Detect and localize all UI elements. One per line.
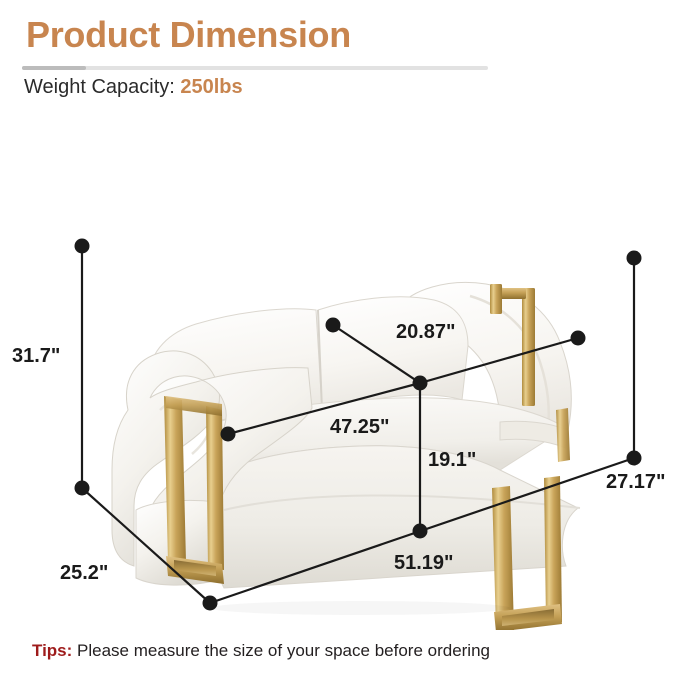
vertex-seat-left <box>221 427 236 442</box>
label-height-31-7: 31.7" <box>12 345 60 367</box>
vertex-seat-right <box>571 331 586 346</box>
label-depth-20-87: 20.87" <box>396 321 456 343</box>
title-divider <box>22 66 488 70</box>
label-seat-19-1: 19.1" <box>428 449 476 471</box>
vertex-bottom-right <box>627 451 642 466</box>
label-width-51-19: 51.19" <box>394 552 454 574</box>
dimension-diagram: 31.7" 20.87" 47.25" 19.1" 25.2" 51.19" 2… <box>0 110 700 630</box>
weight-capacity-label: Weight Capacity: <box>24 76 180 98</box>
tips-text: Please measure the size of your space be… <box>72 641 490 660</box>
vertex-top-right <box>627 251 642 266</box>
label-width-47-25: 47.25" <box>330 416 390 438</box>
dimline-depth-25-2 <box>82 488 210 603</box>
tips-line: Tips: Please measure the size of your sp… <box>32 641 490 661</box>
label-depth-25-2: 25.2" <box>60 562 108 584</box>
weight-capacity-line: Weight Capacity: 250lbs <box>24 76 243 99</box>
vertex-seat-corner <box>413 376 428 391</box>
dimline-depth-20-87-run <box>420 338 578 383</box>
vertex-top-left <box>75 239 90 254</box>
vertex-seat-back <box>326 318 341 333</box>
page-title: Product Dimension <box>26 14 351 55</box>
label-back-27-17: 27.17" <box>606 471 666 493</box>
vertex-bottom-mid <box>413 524 428 539</box>
product-dimension-page: Product Dimension Weight Capacity: 250lb… <box>0 0 700 700</box>
weight-capacity-value: 250lbs <box>180 76 242 98</box>
vertex-bottom-front <box>203 596 218 611</box>
tips-label: Tips: <box>32 641 72 660</box>
dimline-width-47-25 <box>228 383 420 434</box>
vertex-mid-left <box>75 481 90 496</box>
dimension-overlay: 31.7" 20.87" 47.25" 19.1" 25.2" 51.19" 2… <box>0 110 700 630</box>
